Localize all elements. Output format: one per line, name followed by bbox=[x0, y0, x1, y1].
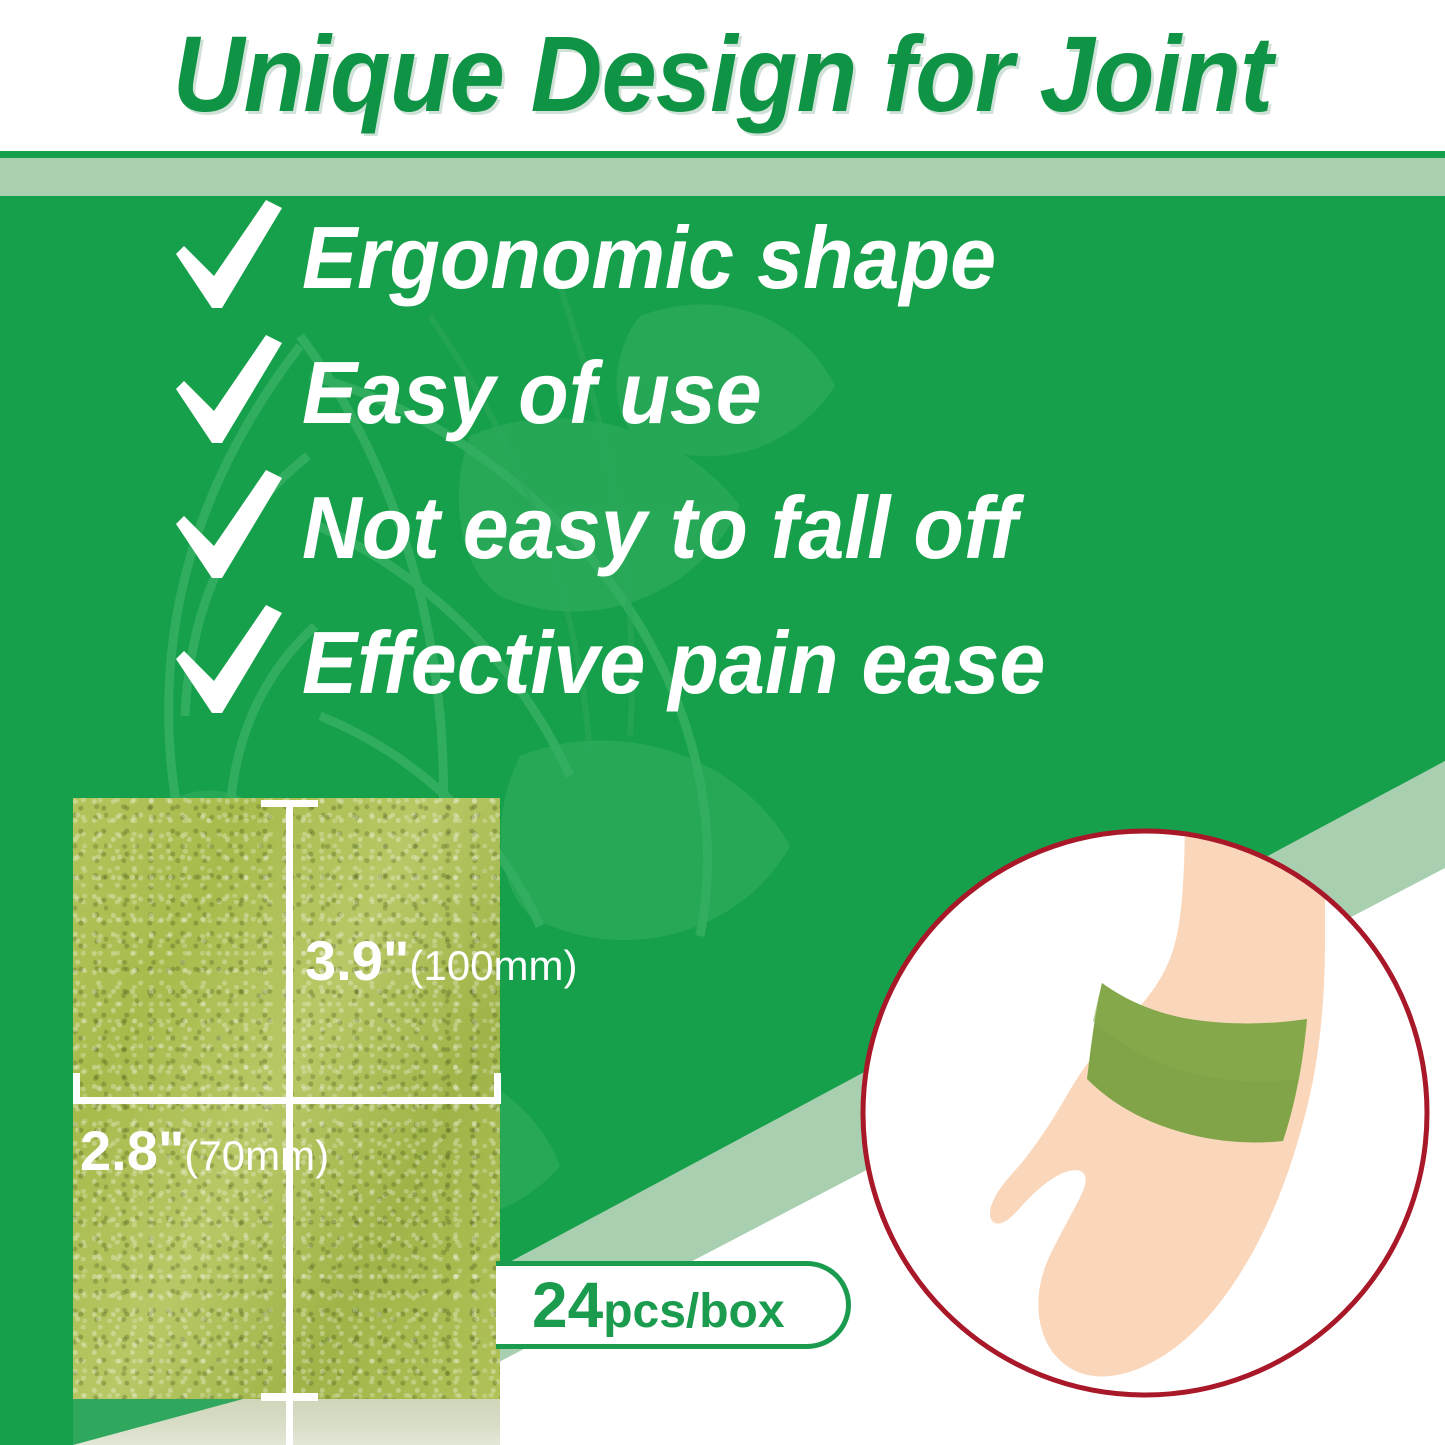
width-measure-line bbox=[73, 1097, 500, 1104]
height-inch-value: 3.9" bbox=[305, 929, 409, 992]
check-icon bbox=[170, 333, 290, 453]
quantity-unit: pcs/box bbox=[603, 1285, 784, 1338]
width-measure-cap-right bbox=[494, 1073, 501, 1104]
quantity-count: 24 bbox=[532, 1269, 603, 1341]
width-measure-cap-left bbox=[73, 1073, 80, 1104]
feature-label: Easy of use bbox=[302, 333, 762, 453]
page-title: Unique Design for Joint bbox=[58, 14, 1387, 134]
height-dimension-label: 3.9"(100mm) bbox=[305, 928, 577, 993]
hand-wrist-illustration bbox=[855, 823, 1435, 1403]
divider-dark-green bbox=[0, 151, 1445, 158]
list-item: Not easy to fall off bbox=[170, 468, 1300, 603]
list-item: Ergonomic shape bbox=[170, 198, 1300, 333]
height-mm-value: (100mm) bbox=[409, 942, 577, 989]
width-dimension-label: 2.8"(70mm) bbox=[80, 1118, 329, 1183]
divider-light-green bbox=[0, 158, 1445, 196]
height-measure-cap-top bbox=[261, 800, 318, 807]
feature-label: Not easy to fall off bbox=[302, 468, 1017, 588]
list-item: Easy of use bbox=[170, 333, 1300, 468]
product-feature-infographic: Unique Design for Joint bbox=[0, 0, 1445, 1445]
feature-label: Effective pain ease bbox=[302, 603, 1045, 723]
feature-list: Ergonomic shape Easy of use Not easy to … bbox=[170, 198, 1300, 738]
quantity-badge: 24pcs/box bbox=[496, 1261, 851, 1349]
list-item: Effective pain ease bbox=[170, 603, 1300, 738]
check-icon bbox=[170, 603, 290, 723]
check-icon bbox=[170, 198, 290, 318]
quantity-badge-text: 24pcs/box bbox=[532, 1268, 785, 1342]
width-inch-value: 2.8" bbox=[80, 1119, 184, 1182]
header-area: Unique Design for Joint bbox=[0, 0, 1445, 152]
width-mm-value: (70mm) bbox=[184, 1132, 329, 1179]
check-icon bbox=[170, 468, 290, 588]
feature-label: Ergonomic shape bbox=[302, 198, 996, 318]
height-measure-cap-bottom bbox=[261, 1393, 318, 1401]
